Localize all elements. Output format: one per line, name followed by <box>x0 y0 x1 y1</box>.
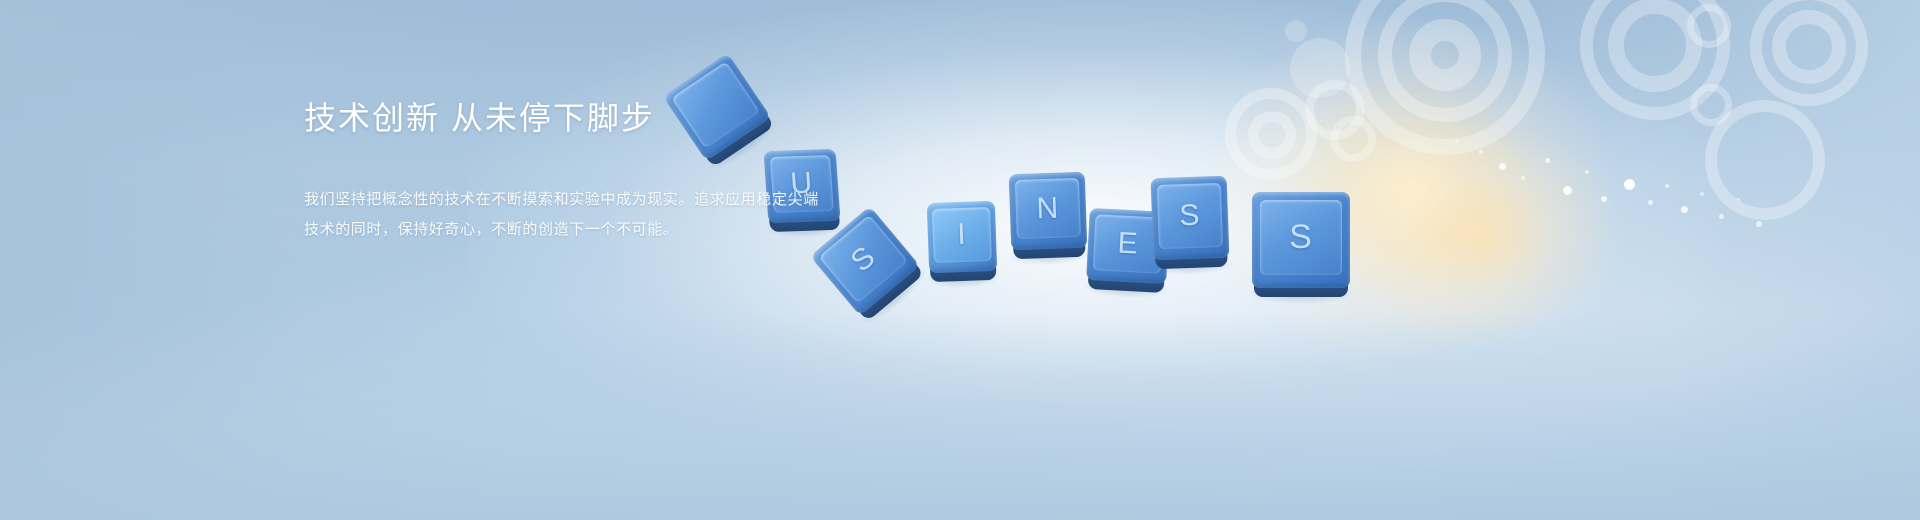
keycap-letter: E <box>1117 226 1140 261</box>
subtitle-line-2: 技术的同时，保持好奇心，不断的创造下一个不可能。 <box>304 215 1004 245</box>
keycap-face: S <box>1157 182 1223 248</box>
keycap-body: S <box>1151 176 1230 261</box>
keycap-group: U S I <box>0 0 1920 520</box>
page-title: 技术创新 从未停下脚步 <box>304 96 1004 140</box>
keycap-face: N <box>1015 178 1081 239</box>
keycap-letter: S <box>1289 218 1313 257</box>
keycap-s-2: S <box>1151 176 1230 261</box>
keycap-base <box>1155 251 1228 270</box>
keycap-base <box>1254 281 1348 297</box>
subtitle-line-1: 我们坚持把概念性的技术在不断摸索和实验中成为现实。追求应用稳定尖端 <box>304 185 1004 215</box>
text-block: 技术创新 从未停下脚步 我们坚持把概念性的技术在不断摸索和实验中成为现实。追求应… <box>304 96 1004 245</box>
page-subtitle: 我们坚持把概念性的技术在不断摸索和实验中成为现实。追求应用稳定尖端 技术的同时，… <box>304 185 1004 245</box>
keycap-letter: S <box>845 239 883 279</box>
keycap-face: S <box>1260 200 1342 275</box>
keycap-letter: N <box>1036 191 1060 226</box>
keycap-n: N <box>1009 172 1088 251</box>
hero-banner: 技术创新 从未停下脚步 我们坚持把概念性的技术在不断摸索和实验中成为现实。追求应… <box>0 0 1920 520</box>
keycap-body: S <box>1252 192 1350 288</box>
keycap-base <box>1013 241 1086 260</box>
keycap-base <box>930 264 996 282</box>
keycap-s-3: S <box>1252 192 1350 288</box>
keycap-letter: S <box>1179 198 1201 233</box>
keycap-body: N <box>1009 172 1088 251</box>
